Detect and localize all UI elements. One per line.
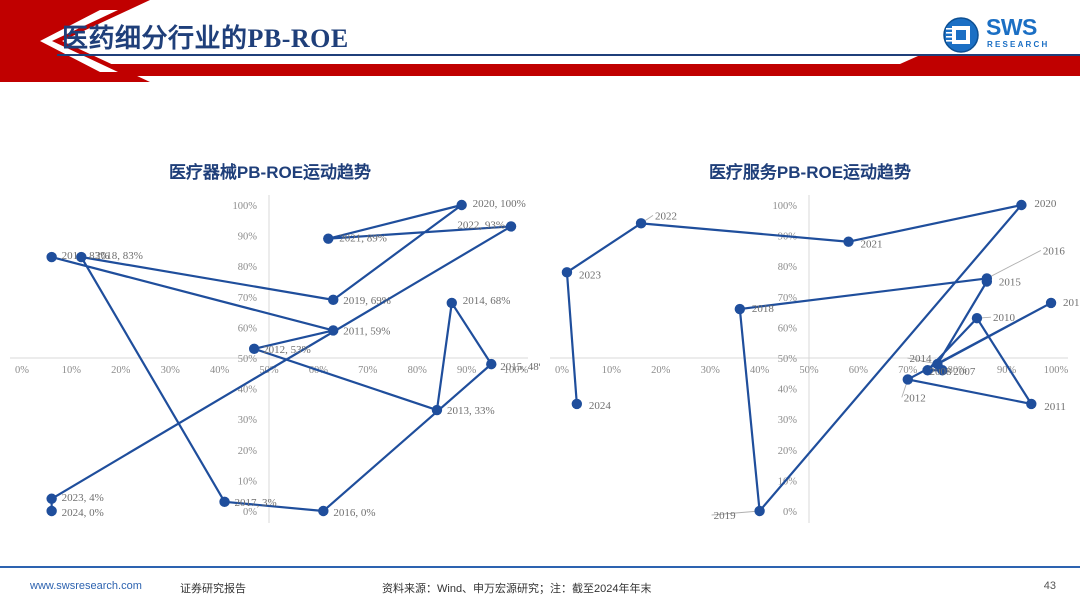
data-point-marker[interactable]	[328, 325, 338, 335]
y-axis-tick: 30%	[778, 415, 798, 426]
footer-page-number: 43	[1044, 580, 1056, 592]
x-axis-tick: 30%	[701, 365, 721, 376]
data-point-label: 2011	[1044, 401, 1066, 413]
label-leader-line	[987, 250, 1041, 278]
data-point-label: 2023, 4%	[62, 492, 104, 504]
chart-left-plot: 0%10%20%30%40%50%60%70%80%90%100%0%10%20…	[0, 100, 540, 540]
y-axis-tick: 100%	[773, 201, 798, 212]
data-point-marker[interactable]	[456, 200, 466, 210]
sws-research-logo: SWS RESEARCH	[942, 14, 1062, 58]
data-point-marker[interactable]	[323, 233, 333, 243]
y-axis-tick: 60%	[778, 323, 798, 334]
data-point-marker[interactable]	[1016, 200, 1026, 210]
x-axis-tick: 30%	[161, 365, 181, 376]
data-point-marker[interactable]	[447, 298, 457, 308]
footer-divider	[0, 566, 1080, 568]
chart-medical-services: 医疗服务PB-ROE运动趋势 0%10%20%30%40%50%60%70%80…	[540, 100, 1080, 540]
data-point-label: 2020, 100%	[473, 198, 526, 210]
data-point-marker[interactable]	[562, 267, 572, 277]
y-axis-tick: 30%	[238, 415, 258, 426]
x-axis-tick: 10%	[62, 365, 82, 376]
data-point-marker[interactable]	[328, 295, 338, 305]
data-point-label: 2018	[752, 303, 775, 315]
data-point-label: 2010	[993, 312, 1016, 324]
y-axis-tick: 20%	[778, 446, 798, 457]
data-point-marker[interactable]	[432, 405, 442, 415]
footer-source-note: 资料来源：Wind、申万宏源研究；注：截至2024年年末	[382, 580, 652, 596]
y-axis-tick: 60%	[238, 323, 258, 334]
data-point-label: 2015, 48%	[500, 361, 540, 373]
page-title: 医药细分行业的PB-ROE	[62, 18, 349, 55]
data-point-marker[interactable]	[76, 252, 86, 262]
data-point-marker[interactable]	[754, 506, 764, 516]
data-point-marker[interactable]	[903, 374, 913, 384]
data-point-label: 2011, 59%	[343, 325, 390, 337]
y-axis-tick: 40%	[778, 385, 798, 396]
data-point-label: 2012, 53%	[263, 344, 311, 356]
data-point-label: 2024	[589, 400, 612, 412]
data-point-marker[interactable]	[318, 506, 328, 516]
y-axis-tick: 70%	[238, 293, 258, 304]
data-point-label: 2018, 83%	[95, 250, 143, 262]
data-point-label: 2019, 69%	[343, 295, 391, 307]
sws-globe-icon	[942, 16, 980, 54]
data-point-marker[interactable]	[506, 221, 516, 231]
data-point-marker[interactable]	[46, 494, 56, 504]
x-axis-tick: 20%	[111, 365, 131, 376]
data-point-label: 2019	[714, 510, 737, 522]
data-point-marker[interactable]	[46, 506, 56, 516]
y-axis-tick: 90%	[238, 232, 258, 243]
x-axis-tick: 40%	[750, 365, 770, 376]
data-point-label: 2013, 33%	[447, 405, 495, 417]
data-point-label: 2016	[1043, 245, 1066, 257]
y-axis-tick: 100%	[233, 201, 258, 212]
data-point-marker[interactable]	[219, 497, 229, 507]
y-axis-tick: 20%	[238, 446, 258, 457]
y-axis-tick: 0%	[783, 507, 797, 518]
logo-wordmark: SWS	[986, 16, 1037, 39]
data-point-marker[interactable]	[1026, 399, 1036, 409]
x-axis-tick: 100%	[1044, 365, 1069, 376]
page-header: 医药细分行业的PB-ROE SWS RESEARCH	[0, 0, 1080, 90]
x-axis-tick: 0%	[555, 365, 569, 376]
x-axis-tick: 90%	[457, 365, 477, 376]
data-point-marker[interactable]	[486, 359, 496, 369]
x-axis-tick: 50%	[799, 365, 819, 376]
logo-subtext: RESEARCH	[987, 40, 1050, 49]
data-point-label: 2013	[1063, 297, 1080, 309]
data-point-label: 2020	[1034, 198, 1057, 210]
x-axis-tick: 20%	[651, 365, 671, 376]
data-point-marker[interactable]	[932, 359, 942, 369]
data-point-label: 2015	[999, 277, 1022, 289]
data-point-label: 2014, 68%	[463, 295, 511, 307]
data-point-marker[interactable]	[843, 237, 853, 247]
footer-website-link[interactable]: www.swsresearch.com	[30, 580, 142, 592]
data-point-label: 2016, 0%	[333, 507, 375, 519]
data-point-marker[interactable]	[1046, 298, 1056, 308]
data-point-label: 2024, 0%	[62, 507, 104, 519]
footer-report-label: 证券研究报告	[180, 580, 246, 596]
data-point-marker[interactable]	[249, 344, 259, 354]
data-point-label: 2012	[904, 392, 926, 404]
data-point-marker[interactable]	[735, 304, 745, 314]
data-point-label: 2021, 89%	[339, 233, 387, 245]
data-point-label: 2022, 93%	[457, 219, 505, 231]
data-point-marker[interactable]	[636, 218, 646, 228]
x-axis-tick: 70%	[358, 365, 378, 376]
data-point-label: 2021	[861, 239, 883, 251]
data-point-label: 2014	[909, 353, 932, 365]
data-point-label: 2023	[579, 269, 602, 281]
data-point-marker[interactable]	[572, 399, 582, 409]
y-axis-tick: 50%	[238, 354, 258, 365]
header-divider	[57, 54, 1080, 56]
data-point-marker[interactable]	[982, 273, 992, 283]
x-axis-tick: 0%	[15, 365, 29, 376]
x-axis-tick: 60%	[849, 365, 869, 376]
y-axis-tick: 50%	[778, 354, 798, 365]
y-axis-tick: 10%	[238, 476, 258, 487]
x-axis-tick: 40%	[210, 365, 230, 376]
data-point-marker[interactable]	[972, 313, 982, 323]
x-axis-tick: 10%	[602, 365, 622, 376]
data-point-label: 2022	[655, 210, 677, 222]
y-axis-tick: 80%	[778, 262, 798, 273]
page-footer: www.swsresearch.com 证券研究报告 资料来源：Wind、申万宏…	[0, 562, 1080, 608]
data-point-label: 2017, 3%	[235, 497, 277, 509]
chart-right-plot: 0%10%20%30%40%50%60%70%80%90%100%0%10%20…	[540, 100, 1080, 540]
data-point-label: 2007	[953, 366, 976, 378]
y-axis-tick: 80%	[238, 262, 258, 273]
data-point-marker[interactable]	[46, 252, 56, 262]
chart-medical-devices: 医疗器械PB-ROE运动趋势 0%10%20%30%40%50%60%70%80…	[0, 100, 540, 540]
x-axis-tick: 80%	[408, 365, 428, 376]
